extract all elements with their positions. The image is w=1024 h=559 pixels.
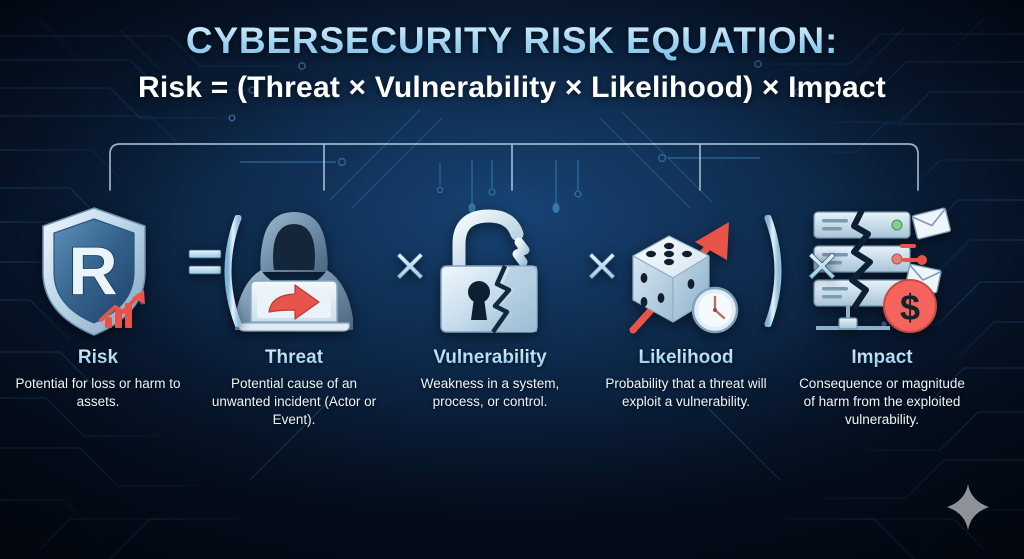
broken-padlock-icon — [392, 196, 588, 348]
four-point-star-sparkle-icon — [946, 483, 990, 531]
component-likelihood: Likelihood Probability that a threat wil… — [588, 196, 784, 496]
hooded-hacker-laptop-icon — [196, 196, 392, 348]
component-label-impact: Impact — [851, 348, 912, 369]
risk-equation-formula: Risk = (Threat × Vulnerability × Likelih… — [0, 71, 1024, 105]
dice-clock-arrow-icon — [588, 196, 784, 348]
component-description-impact: Consequence or magnitude of harm from th… — [793, 375, 971, 429]
component-description-threat: Potential cause of an unwanted incident … — [205, 375, 383, 429]
component-description-risk: Potential for loss or harm to assets. — [9, 375, 187, 411]
component-risk: R Risk Potential for loss or harm to ass… — [0, 196, 196, 496]
header: CYBERSECURITY RISK EQUATION: Risk = (Thr… — [0, 22, 1024, 105]
component-description-likelihood: Probability that a threat will exploit a… — [597, 375, 775, 411]
component-label-likelihood: Likelihood — [639, 348, 734, 369]
component-columns: R Risk Potential for loss or harm to ass… — [0, 196, 1024, 496]
component-threat: Threat Potential cause of an unwanted in… — [196, 196, 392, 496]
grouping-bracket-connector — [108, 140, 920, 192]
svg-text:R: R — [68, 233, 117, 309]
component-description-vulnerability: Weakness in a system, process, or contro… — [401, 375, 579, 411]
component-label-vulnerability: Vulnerability — [433, 348, 546, 369]
infographic-canvas: CYBERSECURITY RISK EQUATION: Risk = (Thr… — [0, 0, 1024, 559]
cracked-server-dollar-icon: $ — [784, 196, 980, 348]
component-label-risk: Risk — [78, 348, 118, 369]
component-vulnerability: Vulnerability Weakness in a system, proc… — [392, 196, 588, 496]
svg-text:$: $ — [900, 287, 920, 328]
page-title: CYBERSECURITY RISK EQUATION: — [0, 22, 1024, 61]
shield-r-chart-icon: R — [0, 196, 196, 348]
component-label-threat: Threat — [265, 348, 323, 369]
component-impact: $ Impact Consequence or magnitude of har… — [784, 196, 980, 496]
